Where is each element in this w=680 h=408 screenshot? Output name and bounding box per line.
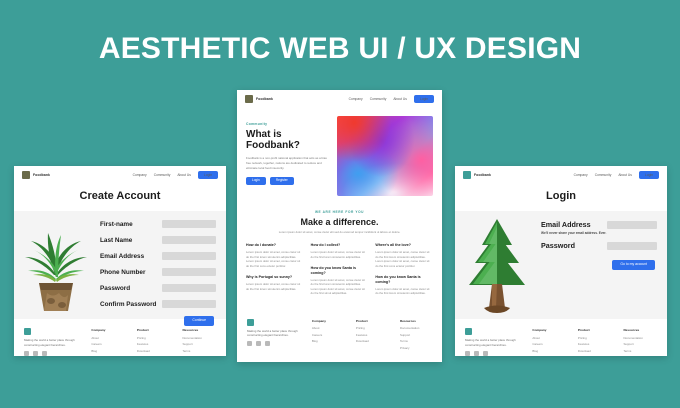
field-email-address: Email Address [541,220,657,229]
hero-title: What is Foodbank? [246,129,330,151]
password-input[interactable] [607,242,657,250]
footer-column-title: Product [137,328,171,332]
footer-column-title: Company [312,319,344,323]
footer-logo-icon [24,328,31,335]
footer-link[interactable]: Download [356,339,388,343]
page-title: AESTHETIC WEB UI / UX DESIGN [0,32,680,66]
footer-brand: Making the world a better place through … [465,328,520,356]
footer-column-product: Product Pricing Features Download [356,319,388,346]
nav-item-company[interactable]: Company [133,173,147,177]
brand-logo[interactable]: Foodbank [22,171,50,179]
faq-question: How do I collect? [311,243,369,247]
pine-tree-icon [462,215,532,315]
footer-brand: Making the world a better place through … [247,319,300,347]
footer-column-resources: Resources Documentation Support Terms Pr… [623,328,657,356]
field-label: Phone Number [100,269,162,276]
brand-name: Foodbank [474,173,491,177]
faq-answer: Lorem ipsum dolor sit amet, conse ctetur… [246,250,304,268]
nav-links: Company Community About Us Login [133,171,218,179]
faq-answer: Lorem ipsum dolor sit amet, conse ctetur… [246,282,304,291]
footer-socials [24,351,79,356]
nav-item-about-us[interactable]: About Us [177,173,191,177]
nav-item-community[interactable]: Community [370,97,387,101]
footer-link[interactable]: Blog [91,349,125,353]
footer-link[interactable]: Careers [312,333,344,337]
signup-form: First-name Last Name Email Address Phone… [14,211,226,319]
footer-link[interactable]: Documentation [400,326,432,330]
footer-link[interactable]: Documentation [623,336,657,340]
faq-answer: Lorem ipsum dolor sit amet, conse ctetur… [375,250,433,268]
nav-links: Company Community About Us Login [574,171,659,179]
email-address-input[interactable] [607,221,657,229]
faq-item: Where's all the love? Lorem ipsum dolor … [375,243,433,268]
login-heading: Login [455,184,667,211]
login-submit-button[interactable]: Go to my account [612,260,655,269]
footer-column-company: Company About Careers Blog [312,319,344,346]
footer-link[interactable]: Features [578,342,612,346]
last-name-input[interactable] [162,236,216,244]
logo-mark-icon [245,95,253,103]
navbar: Foodbank Company Community About Us Logi… [14,166,226,184]
login-submit-row: Go to my account [541,260,657,269]
footer-column-resources: Resources Documentation Support Terms Pr… [182,328,216,356]
faq-item: Why is Portugal so sunny? Lorem ipsum do… [246,275,304,291]
footer: Making the world a better place through … [455,319,667,356]
field-phone-number: Phone Number [100,268,216,276]
footer-tagline: Making the world a better place through … [247,329,300,338]
facebook-icon[interactable] [24,351,29,356]
nav-item-company[interactable]: Company [574,173,588,177]
mockup-home-page: Foodbank Company Community About Us Logi… [237,90,442,362]
field-first-name: First-name [100,220,216,228]
field-label: Last Name [100,237,162,244]
potted-plant-icon [21,217,91,313]
faq-column: How do I donate? Lorem ipsum dolor sit a… [246,243,304,302]
footer: Making the world a better place through … [237,313,442,359]
footer-link[interactable]: Terms [623,349,657,353]
nav-links: Company Community About Us Login [349,95,434,103]
footer-logo-icon [465,328,472,335]
logo-mark-icon [22,171,30,179]
footer-link[interactable]: Careers [532,342,566,346]
footer-link[interactable]: Privacy [400,346,432,350]
footer-link[interactable]: Blog [312,339,344,343]
twitter-icon[interactable] [256,341,261,346]
brand-logo[interactable]: Foodbank [463,171,491,179]
section-subtitle: Lorem ipsum dolor sit amet, conse ctetur… [255,230,424,234]
footer-socials [465,351,520,356]
field-confirm-password: Confirm Password [100,300,216,308]
faq-answer: Lorem ipsum dolor sit amet, conse ctetur… [311,278,369,296]
field-label: Confirm Password [100,301,162,308]
footer-link[interactable]: Pricing [356,326,388,330]
signup-submit-button[interactable]: Continue [184,316,214,325]
field-label: First-name [100,221,162,228]
section-title: Make a difference. [255,217,424,227]
faq-question: How do you know Santa is coming? [311,266,369,275]
footer-link[interactable]: About [91,336,125,340]
hero-register-button[interactable]: Register [270,177,294,185]
footer-link[interactable]: About [532,336,566,340]
footer-link[interactable]: Documentation [182,336,216,340]
footer-link[interactable]: Pricing [578,336,612,340]
footer-link[interactable]: Support [623,342,657,346]
faq-question: How do you know Santa is coming? [375,275,433,284]
footer-column-company: Company About Careers Blog [532,328,566,355]
brand-name: Foodbank [33,173,50,177]
nav-item-company[interactable]: Company [349,97,363,101]
tree-illustration [455,211,539,319]
hero-buttons: Login Register [246,177,330,185]
faq-column: Where's all the love? Lorem ipsum dolor … [375,243,433,302]
faq-column: How do I collect? Lorem ipsum dolor sit … [311,243,369,302]
signup-heading: Create Account [14,184,226,211]
footer-link[interactable]: Pricing [137,336,171,340]
section-eyebrow: WE ARE HERE FOR YOU [255,210,424,214]
hero-copy: Foodbank is a non-profit national applic… [246,156,330,170]
footer-column-title: Resources [182,328,216,332]
footer-column-product: Product Pricing Features Download [578,328,612,355]
footer-column-title: Resources [400,319,432,323]
footer-link[interactable]: Features [137,342,171,346]
faq-answer: Lorem ipsum dolor sit amet, conse ctetur… [311,250,369,259]
signup-submit-row: Continue [100,316,216,325]
faq-question: Why is Portugal so sunny? [246,275,304,279]
navbar: Foodbank Company Community About Us Logi… [237,90,442,108]
plant-illustration [14,211,98,319]
hero-gradient-image [337,116,433,196]
footer-tagline: Making the world a better place through … [465,338,520,347]
field-email-address: Email Address [100,252,216,260]
signup-fields: First-name Last Name Email Address Phone… [98,211,226,319]
field-label: Password [541,241,607,250]
twitter-icon[interactable] [474,351,479,356]
footer-brand: Making the world a better place through … [24,328,79,356]
footer-column-title: Product [356,319,388,323]
login-fields: Email Address We'll never share your ema… [539,211,667,319]
hero-section: Community What is Foodbank? Foodbank is … [237,108,442,206]
footer-link[interactable]: Download [578,349,612,353]
footer-link[interactable]: Download [137,349,171,353]
hero-text: Community What is Foodbank? Foodbank is … [246,116,330,196]
footer-column-product: Product Pricing Features Download [137,328,171,355]
footer-column-title: Product [578,328,612,332]
field-password: Password [100,284,216,292]
field-label: Password [100,285,162,292]
footer-column-title: Company [91,328,125,332]
footer-link[interactable]: Terms [400,339,432,343]
nav-item-about-us[interactable]: About Us [618,173,632,177]
faq-question: Where's all the love? [375,243,433,247]
instagram-icon[interactable] [265,341,270,346]
footer-link[interactable]: Features [356,333,388,337]
faq-item: How do I collect? Lorem ipsum dolor sit … [311,243,369,259]
footer-socials [247,341,300,346]
footer-column-title: Company [532,328,566,332]
navbar: Foodbank Company Community About Us Logi… [455,166,667,184]
mockup-signup-page: Foodbank Company Community About Us Logi… [14,166,226,356]
footer-link[interactable]: Support [400,333,432,337]
field-label: Email Address [541,220,607,229]
footer-link[interactable]: Terms [182,349,216,353]
footer-link[interactable]: Blog [532,349,566,353]
faq-answer: Lorem ipsum dolor sit amet, conse ctetur… [375,287,433,296]
footer-column-company: Company About Careers Blog [91,328,125,355]
footer-column-title: Resources [623,328,657,332]
faq-item: How do I donate? Lorem ipsum dolor sit a… [246,243,304,268]
faq-item: How do you know Santa is coming? Lorem i… [311,266,369,295]
footer-link[interactable]: Careers [91,342,125,346]
password-input[interactable] [162,284,216,292]
brand-name: Foodbank [256,97,273,101]
footer-column-resources: Resources Documentation Support Terms Pr… [400,319,432,353]
footer-link[interactable]: Support [182,342,216,346]
field-label: Email Address [100,253,162,260]
email-helper-note: We'll never share your email address. Ev… [541,231,657,235]
mockup-login-page: Foodbank Company Community About Us Logi… [455,166,667,356]
twitter-icon[interactable] [33,351,38,356]
facebook-icon[interactable] [247,341,252,346]
faq-grid: How do I donate? Lorem ipsum dolor sit a… [237,241,442,312]
phone-number-input[interactable] [162,268,216,276]
footer-link[interactable]: About [312,326,344,330]
field-last-name: Last Name [100,236,216,244]
email-address-input[interactable] [162,252,216,260]
instagram-icon[interactable] [42,351,47,356]
nav-login-button[interactable]: Login [639,171,659,179]
footer-logo-icon [247,319,254,326]
nav-item-about-us[interactable]: About Us [393,97,407,101]
confirm-password-input[interactable] [162,300,216,308]
facebook-icon[interactable] [465,351,470,356]
first-name-input[interactable] [162,220,216,228]
hero-eyebrow: Community [246,122,330,126]
hero-login-button[interactable]: Login [246,177,266,185]
footer-tagline: Making the world a better place through … [24,338,79,347]
logo-mark-icon [463,171,471,179]
field-password: Password [541,241,657,250]
faq-item: How do you know Santa is coming? Lorem i… [375,275,433,295]
brand-logo[interactable]: Foodbank [245,95,273,103]
section-header: WE ARE HERE FOR YOU Make a difference. L… [237,206,442,241]
instagram-icon[interactable] [483,351,488,356]
nav-item-community[interactable]: Community [154,173,171,177]
nav-login-button[interactable]: Login [198,171,218,179]
nav-login-button[interactable]: Login [414,95,434,103]
faq-question: How do I donate? [246,243,304,247]
login-form: Email Address We'll never share your ema… [455,211,667,319]
nav-item-community[interactable]: Community [595,173,612,177]
